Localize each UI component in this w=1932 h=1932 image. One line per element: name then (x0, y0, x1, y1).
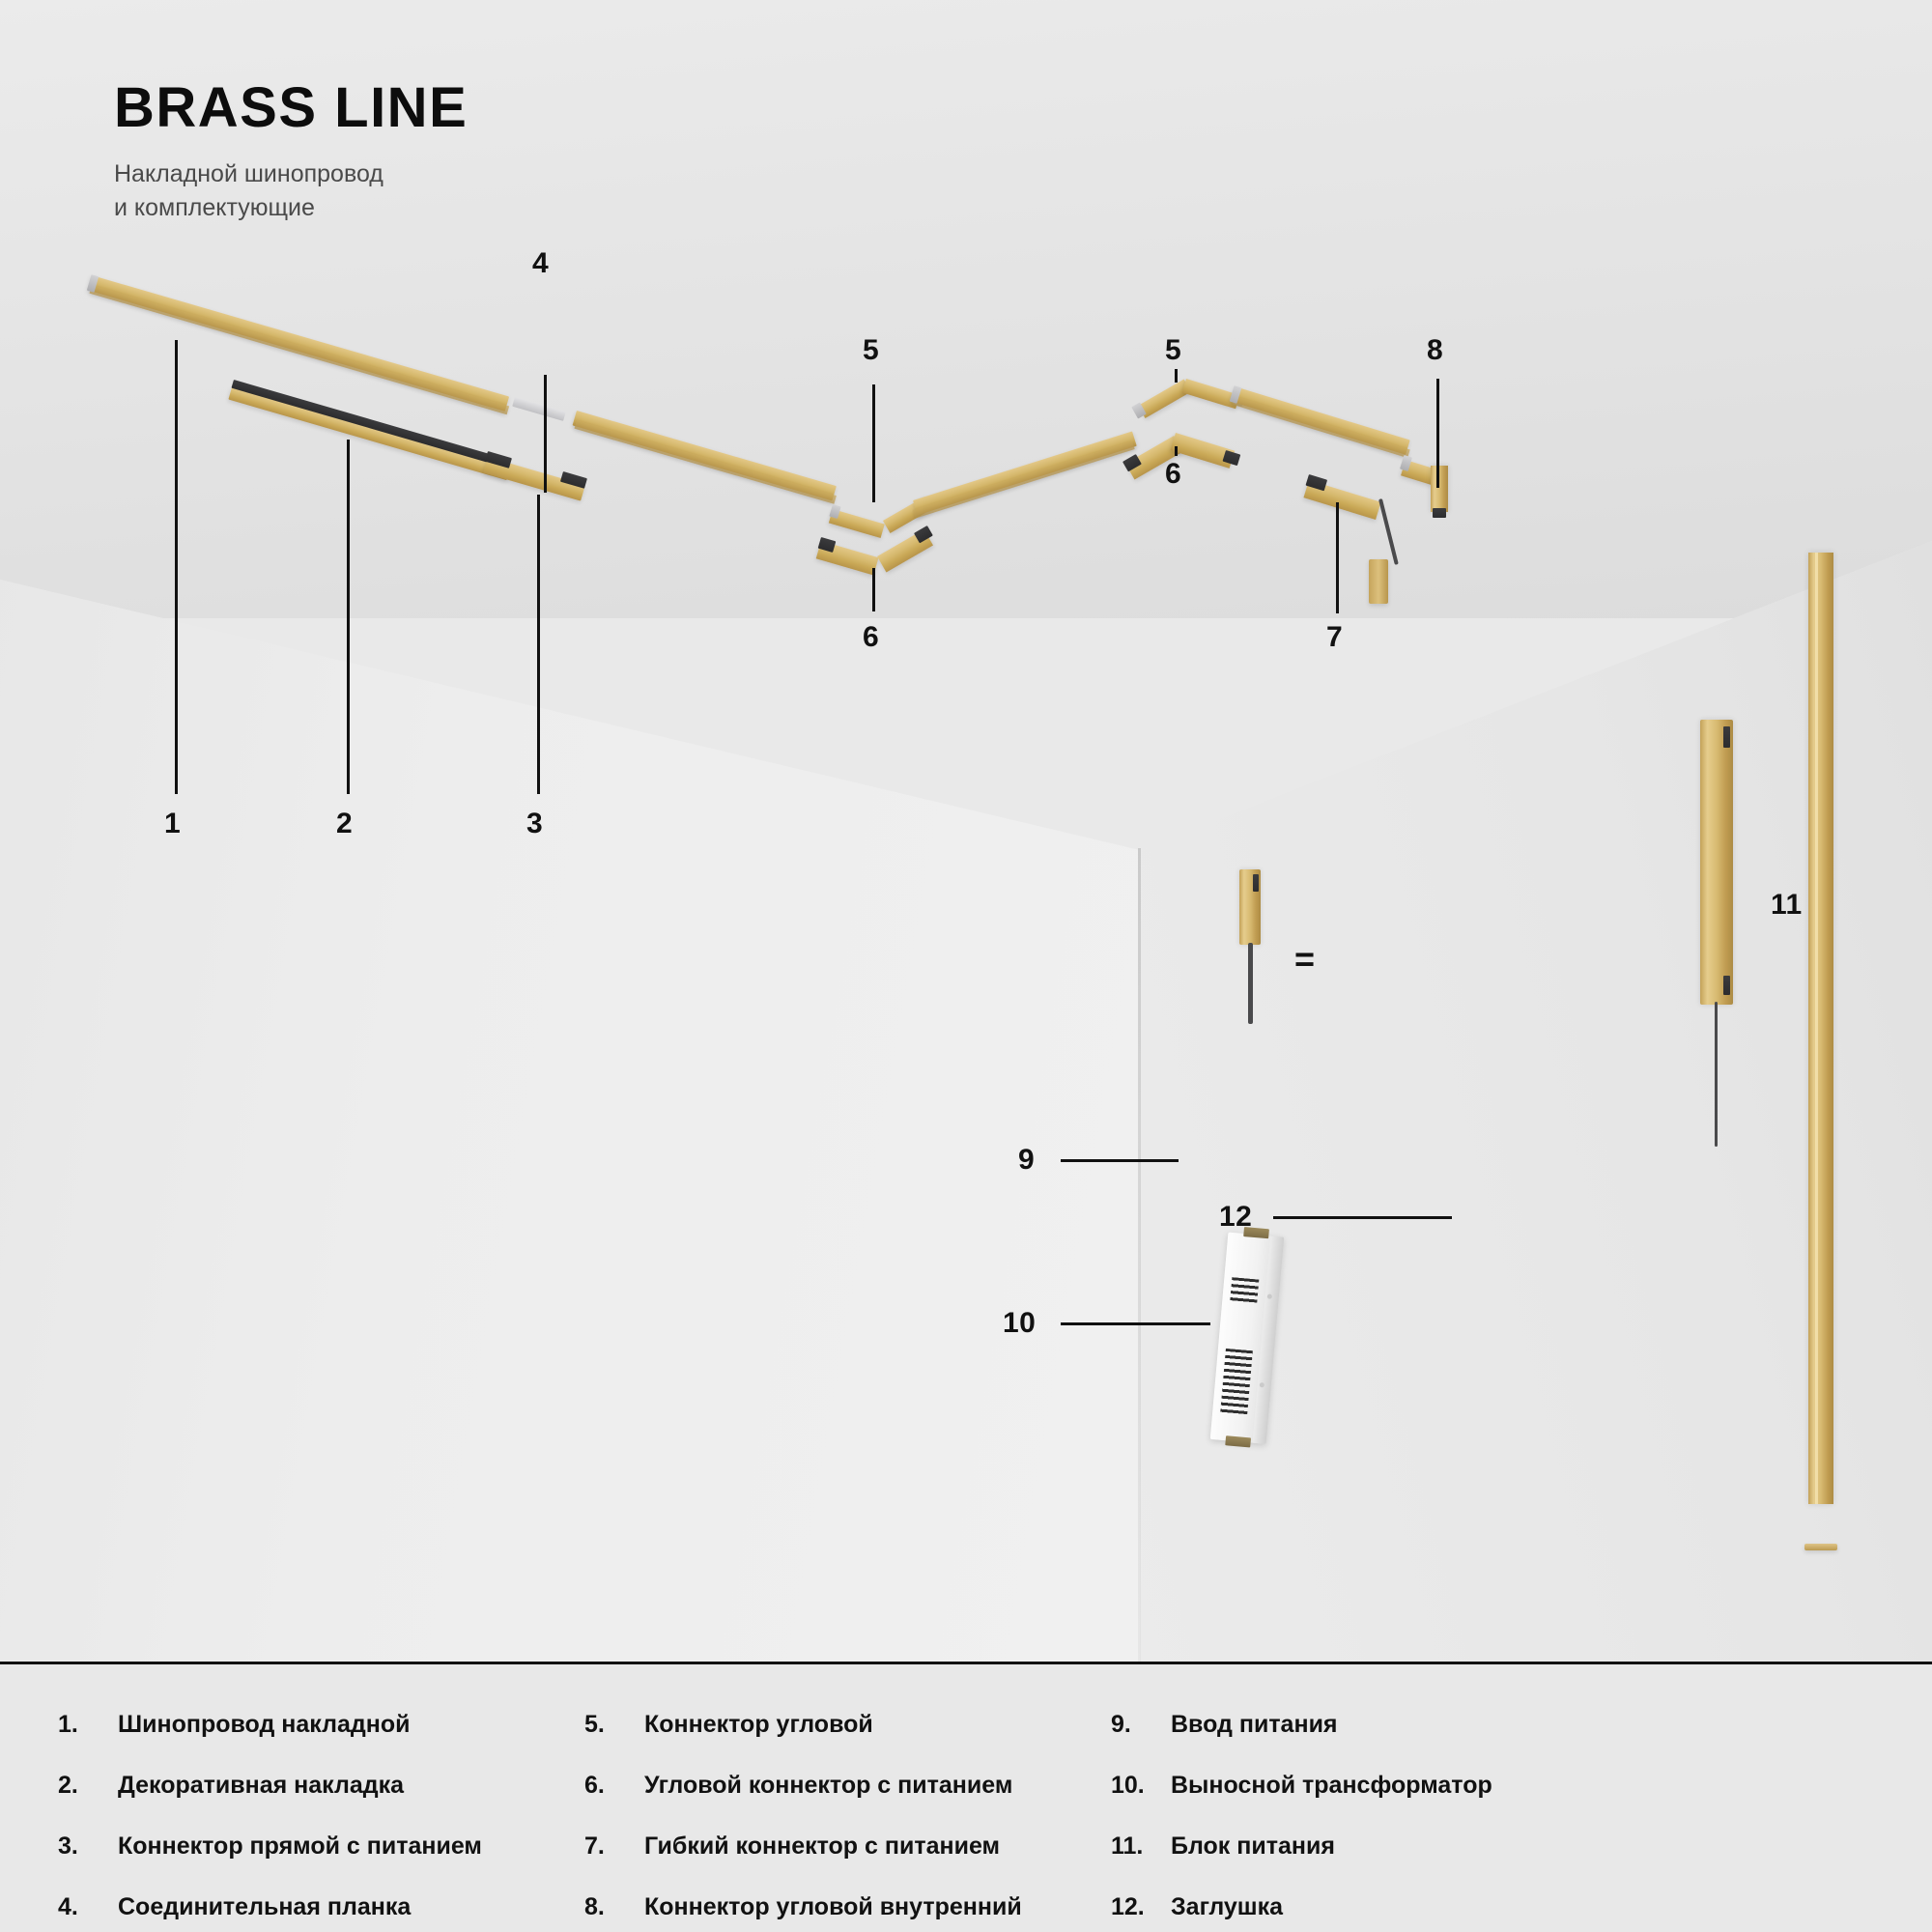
callout-number-9: 9 (1018, 1146, 1035, 1175)
legend-item: 12. Заглушка (1111, 1893, 1637, 1921)
callout-number-10: 10 (1003, 1309, 1036, 1338)
leader-line-7 (1336, 502, 1339, 613)
callout-number-5a: 5 (863, 336, 879, 365)
callout-number-6b: 6 (1165, 460, 1181, 489)
legend-label: Коннектор прямой с питанием (118, 1833, 482, 1861)
page-subtitle: Накладной шинопровод и комплектующие (114, 157, 468, 224)
leader-line-8 (1436, 379, 1439, 488)
legend-item: 5. Коннектор угловой (584, 1711, 1111, 1739)
callout-number-7: 7 (1326, 623, 1343, 652)
legend-label: Заглушка (1171, 1893, 1283, 1921)
wall-corner-edge (1138, 848, 1141, 1662)
leader-line-3 (537, 495, 540, 794)
callout-number-8: 8 (1427, 336, 1443, 365)
legend-index: 2. (58, 1772, 118, 1800)
callout-number-1: 1 (164, 810, 181, 838)
leader-line-1 (175, 340, 178, 794)
legend-index: 4. (58, 1893, 118, 1921)
legend-item: 1. Шинопровод накладной (58, 1711, 584, 1739)
callout-number-6a: 6 (863, 623, 879, 652)
callout-number-5b: 5 (1165, 336, 1181, 365)
legend-label: Гибкий коннектор с питанием (644, 1833, 1000, 1861)
legend-item: 9. Ввод питания (1111, 1711, 1637, 1739)
legend-label: Коннектор угловой внутренний (644, 1893, 1022, 1921)
callout-number-3: 3 (526, 810, 543, 838)
power-feed-unit (1239, 869, 1278, 1130)
legend-column-2: 5. Коннектор угловой 6. Угловой коннекто… (584, 1711, 1111, 1932)
legend-column-3: 9. Ввод питания 10. Выносной трансформат… (1111, 1711, 1637, 1932)
track-rail-vertical-right (1808, 553, 1833, 1504)
leader-line-2 (347, 440, 350, 794)
legend-label: Угловой коннектор с питанием (644, 1772, 1012, 1800)
internal-corner-connector (1406, 454, 1463, 531)
legend-label: Шинопровод накладной (118, 1711, 411, 1739)
legend-index: 8. (584, 1893, 644, 1921)
product-scene: 1 2 3 4 5 6 5 6 7 8 9 10 = 11 12 (0, 0, 1932, 1662)
track-rail-right-rise (913, 386, 1145, 512)
power-supply-block (1700, 720, 1733, 1005)
leader-line-12 (1273, 1216, 1452, 1219)
callout-number-12: 12 (1219, 1203, 1252, 1232)
track-rail-center (577, 411, 857, 536)
legend-index: 5. (584, 1711, 644, 1739)
decorative-cover-strip (232, 380, 522, 496)
legend-item: 7. Гибкий коннектор с питанием (584, 1833, 1111, 1861)
legend-label: Выносной трансформатор (1171, 1772, 1492, 1800)
corner-connector-center (833, 497, 924, 538)
callout-number-2: 2 (336, 810, 353, 838)
leader-line-10 (1061, 1322, 1210, 1325)
legend-item: 2. Декоративная накладка (58, 1772, 584, 1800)
subtitle-line-2: и комплектующие (114, 191, 468, 225)
legend-label: Коннектор угловой (644, 1711, 873, 1739)
legend-index: 11. (1111, 1833, 1171, 1861)
leader-line-4 (544, 375, 547, 493)
legend-item: 8. Коннектор угловой внутренний (584, 1893, 1111, 1921)
legend-index: 12. (1111, 1893, 1171, 1921)
leader-line-5b (1175, 369, 1178, 383)
legend-label: Декоративная накладка (118, 1772, 404, 1800)
legend-index: 3. (58, 1833, 118, 1861)
leader-line-9 (1061, 1159, 1179, 1162)
legend-column-1: 1. Шинопровод накладной 2. Декоративная … (58, 1711, 584, 1932)
legend-item: 3. Коннектор прямой с питанием (58, 1833, 584, 1861)
legend-item: 6. Угловой коннектор с питанием (584, 1772, 1111, 1800)
legend-label: Соединительная планка (118, 1893, 411, 1921)
legend-index: 9. (1111, 1711, 1171, 1739)
leader-line-6b (1175, 446, 1178, 456)
legend-label: Блок питания (1171, 1833, 1335, 1861)
legend-label: Ввод питания (1171, 1711, 1338, 1739)
callout-number-4: 4 (532, 249, 549, 278)
callout-number-11: 11 (1771, 891, 1803, 920)
legend-index: 6. (584, 1772, 644, 1800)
leader-line-5a (872, 384, 875, 502)
legend-item: 10. Выносной трансформатор (1111, 1772, 1637, 1800)
corner-connector-right (1138, 377, 1244, 421)
legend-panel: 1. Шинопровод накладной 2. Декоративная … (0, 1662, 1932, 1932)
equals-sign: = (1294, 942, 1315, 977)
end-cap (1804, 1544, 1837, 1553)
legend-index: 10. (1111, 1772, 1171, 1800)
legend-item: 4. Соединительная планка (58, 1893, 584, 1921)
leader-line-6a (872, 568, 875, 611)
legend-item: 11. Блок питания (1111, 1833, 1637, 1861)
page-title: BRASS LINE (114, 75, 468, 140)
legend-index: 1. (58, 1711, 118, 1739)
page-header: BRASS LINE Накладной шинопровод и компле… (114, 75, 468, 224)
corner-power-connector-right (1125, 425, 1241, 477)
subtitle-line-1: Накладной шинопровод (114, 157, 468, 191)
legend-index: 7. (584, 1833, 644, 1861)
